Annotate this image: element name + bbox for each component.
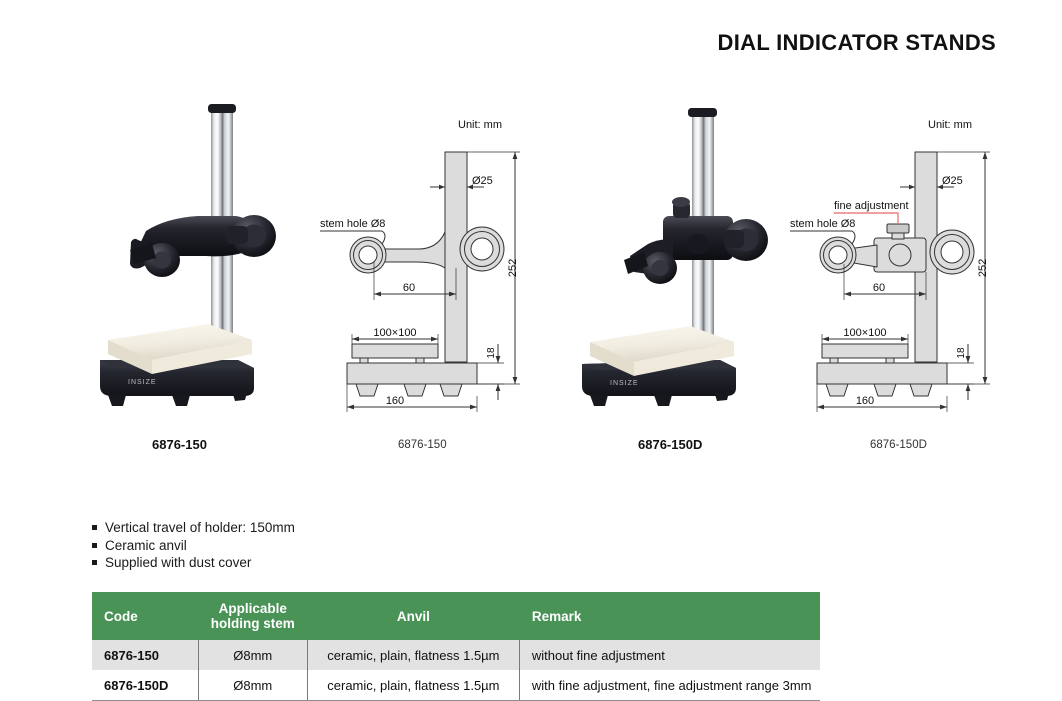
foot xyxy=(654,395,672,406)
column-header-remark: Remark xyxy=(519,592,819,640)
cell-code: 6876-150 xyxy=(92,640,198,670)
column-cap xyxy=(208,104,236,113)
dim-plate: 100×100 xyxy=(843,327,886,339)
dim-base-height: 18 xyxy=(956,347,967,359)
label-stem-hole: stem hole Ø8 xyxy=(790,218,855,230)
cell-remark: with fine adjustment, fine adjustment ra… xyxy=(519,670,819,701)
column-header-code: Code xyxy=(92,592,198,640)
list-item: Vertical travel of holder: 150mm xyxy=(92,520,295,536)
cell-anvil: ceramic, plain, flatness 1.5µm xyxy=(307,640,519,670)
dim-height: 252 xyxy=(507,259,519,277)
product-photo-svg: INSIZE xyxy=(578,88,802,408)
column-header-stem-line2: holding stem xyxy=(211,616,295,631)
drawing-caption-1: 6876-150 xyxy=(398,439,447,451)
bullet-square-icon xyxy=(92,543,97,548)
list-item: Ceramic anvil xyxy=(92,538,295,554)
foot xyxy=(714,389,730,401)
table-header-row: Code Applicable holding stem Anvil Remar… xyxy=(92,592,820,640)
foot xyxy=(172,395,190,406)
feature-text: Supplied with dust cover xyxy=(105,555,251,571)
foot xyxy=(108,395,126,406)
brand-mark: INSIZE xyxy=(128,379,157,386)
holder-bracket xyxy=(130,215,276,277)
unit-note-label: Unit: mm xyxy=(458,119,502,131)
technical-drawing-6876-150: Unit: mm Ø25 stem hole Ø8 60 100×100 160… xyxy=(312,112,538,437)
product-photo-6876-150: INSIZE xyxy=(86,88,310,408)
dim-arm-reach: 60 xyxy=(873,282,885,294)
brand-mark: INSIZE xyxy=(610,380,639,387)
page-title: DIAL INDICATOR STANDS xyxy=(718,30,996,56)
technical-drawing-6876-150D: Unit: mm Ø25 fine adjustment stem hole Ø… xyxy=(782,112,1012,437)
photo-stage: INSIZE xyxy=(86,88,310,408)
label-fine-adjustment: fine adjustment xyxy=(834,200,909,212)
product-caption-1: 6876-150 xyxy=(152,437,207,452)
specification-table: Code Applicable holding stem Anvil Remar… xyxy=(92,592,820,701)
dim-base-width: 160 xyxy=(386,395,404,407)
foot xyxy=(232,389,248,401)
drawing-svg-1: Unit: mm Ø25 stem hole Ø8 60 100×100 160… xyxy=(312,112,538,432)
bullet-square-icon xyxy=(92,560,97,565)
cell-anvil: ceramic, plain, flatness 1.5µm xyxy=(307,670,519,701)
product-photo-6876-150D: INSIZE xyxy=(578,88,802,408)
bullet-square-icon xyxy=(92,525,97,530)
table-row: 6876-150 Ø8mm ceramic, plain, flatness 1… xyxy=(92,640,820,670)
product-caption-2: 6876-150D xyxy=(638,437,702,452)
column-cap xyxy=(688,108,717,117)
product-photo-svg: INSIZE xyxy=(86,88,310,408)
cell-remark: without fine adjustment xyxy=(519,640,819,670)
dim-column-dia: Ø25 xyxy=(942,175,963,187)
foot xyxy=(590,395,608,406)
feature-text: Ceramic anvil xyxy=(105,538,187,554)
dim-base-width: 160 xyxy=(856,395,874,407)
dim-column-dia: Ø25 xyxy=(472,175,493,187)
unit-note-label: Unit: mm xyxy=(928,119,972,131)
drawing-svg-2: Unit: mm Ø25 fine adjustment stem hole Ø… xyxy=(782,112,1012,432)
column-header-stem: Applicable holding stem xyxy=(198,592,307,640)
label-stem-hole: stem hole Ø8 xyxy=(320,218,385,230)
drawing-caption-2: 6876-150D xyxy=(870,439,927,451)
column-header-anvil: Anvil xyxy=(307,592,519,640)
dim-plate: 100×100 xyxy=(373,327,416,339)
cell-code: 6876-150D xyxy=(92,670,198,701)
feature-list: Vertical travel of holder: 150mm Ceramic… xyxy=(92,520,295,573)
table-row: 6876-150D Ø8mm ceramic, plain, flatness … xyxy=(92,670,820,701)
cell-stem: Ø8mm xyxy=(198,670,307,701)
cell-stem: Ø8mm xyxy=(198,640,307,670)
dim-arm-reach: 60 xyxy=(403,282,415,294)
dim-base-height: 18 xyxy=(486,347,497,359)
feature-text: Vertical travel of holder: 150mm xyxy=(105,520,295,536)
dim-height: 252 xyxy=(977,259,989,277)
column-header-stem-line1: Applicable xyxy=(219,601,287,616)
photo-stage: INSIZE xyxy=(578,88,802,408)
list-item: Supplied with dust cover xyxy=(92,555,295,571)
